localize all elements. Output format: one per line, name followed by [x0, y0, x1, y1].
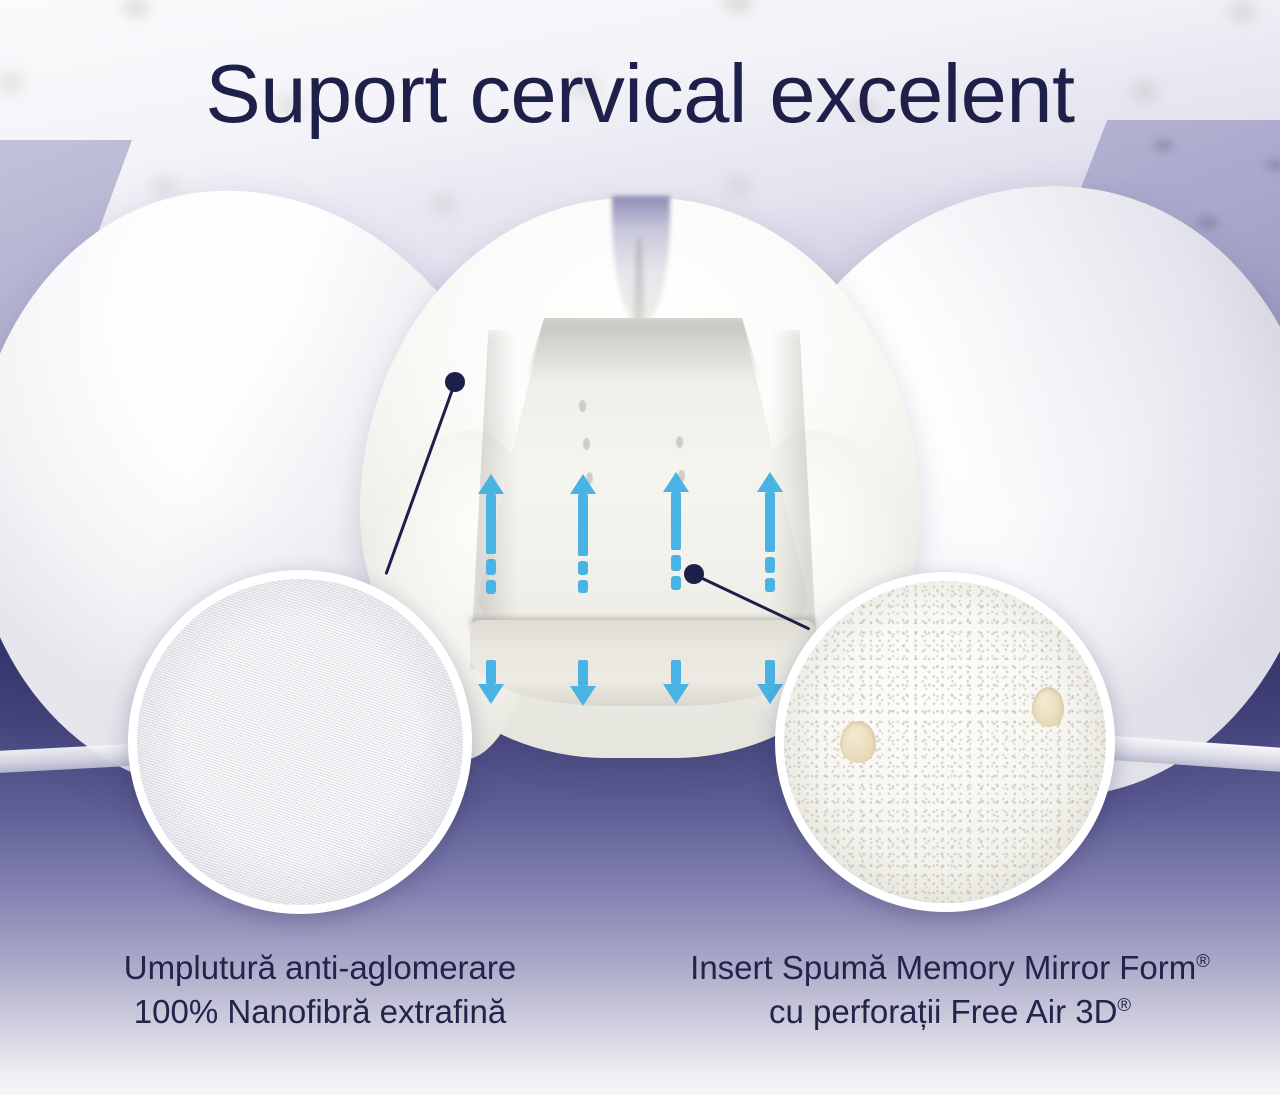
foam-perforation-mark	[676, 436, 683, 448]
arrow-shaft	[671, 660, 681, 684]
arrow-dash	[765, 578, 775, 592]
arrow-shaft	[486, 494, 496, 554]
arrow-dash	[578, 561, 588, 575]
registered-trademark-icon: ®	[1196, 950, 1210, 971]
arrow-shaft	[486, 660, 496, 684]
airflow-arrow-down-icon	[570, 660, 596, 706]
airflow-arrow-up-icon	[757, 472, 783, 592]
callout-dot-foam	[684, 564, 704, 584]
arrow-head	[570, 686, 596, 706]
caption-left: Umplutură anti-aglomerare 100% Nanofibră…	[20, 946, 620, 1033]
arrow-dash	[486, 559, 496, 575]
registered-trademark-icon: ®	[1117, 994, 1131, 1015]
arrow-head	[757, 472, 783, 492]
arrow-dash	[671, 555, 681, 571]
arrow-head	[663, 472, 689, 492]
page-title: Suport cervical excelent	[0, 52, 1280, 135]
caption-right: Insert Spumă Memory Mirror Form® cu perf…	[650, 946, 1250, 1033]
arrow-head	[478, 474, 504, 494]
foam-perforation-mark	[579, 400, 586, 412]
arrow-dash	[765, 557, 775, 573]
detail-circle-foam[interactable]	[775, 572, 1115, 912]
caption-right-line2-text: cu perforații Free Air 3D	[769, 993, 1117, 1030]
airflow-arrow-down-icon	[663, 660, 689, 704]
arrow-dash	[578, 580, 588, 593]
caption-right-line2: cu perforații Free Air 3D®	[650, 990, 1250, 1034]
airflow-arrow-down-icon	[757, 660, 783, 704]
foam-perforation-mark	[583, 438, 590, 450]
arrow-shaft	[578, 660, 588, 686]
nanofiber-texture-swatch	[137, 579, 463, 905]
memory-foam-texture-swatch	[784, 581, 1106, 903]
caption-left-line1: Umplutură anti-aglomerare	[20, 946, 620, 990]
arrow-shaft	[578, 494, 588, 556]
caption-right-line1: Insert Spumă Memory Mirror Form®	[650, 946, 1250, 990]
airflow-arrow-up-icon	[478, 474, 504, 594]
arrow-head	[663, 684, 689, 704]
memory-foam-vignette	[784, 581, 1106, 903]
promo-banner: Suport cervical excelent Umplutură anti-…	[0, 0, 1280, 1095]
arrow-head	[478, 684, 504, 704]
arrow-shaft	[765, 660, 775, 684]
arrow-dash	[671, 576, 681, 590]
arrow-shaft	[765, 492, 775, 552]
airflow-arrow-down-icon	[478, 660, 504, 704]
nanofiber-vignette	[137, 579, 463, 905]
arrow-head	[570, 474, 596, 494]
caption-right-line1-text: Insert Spumă Memory Mirror Form	[690, 949, 1196, 986]
arrow-dash	[486, 580, 496, 594]
detail-circle-fiber[interactable]	[128, 570, 472, 914]
callout-dot-fiber	[445, 372, 465, 392]
airflow-arrow-up-icon	[570, 474, 596, 593]
caption-left-line2: 100% Nanofibră extrafină	[20, 990, 620, 1034]
arrow-shaft	[671, 492, 681, 550]
